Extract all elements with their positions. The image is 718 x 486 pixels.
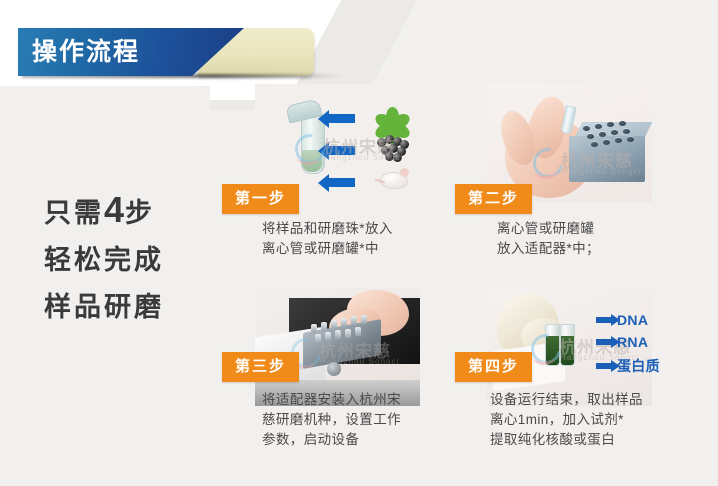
output-row-protein: 蛋白质 — [596, 356, 660, 376]
plant-leaf-icon — [375, 101, 409, 133]
output-row-rna: RNA — [596, 334, 648, 350]
output-row-dna: DNA — [596, 312, 648, 328]
headline-line-3: 样品研磨 — [44, 284, 214, 331]
step-4-badge: 第四步 — [455, 352, 532, 382]
step-2-badge: 第二步 — [455, 184, 532, 214]
sample-vial-2 — [560, 324, 575, 366]
headline-block: 只需4步 轻松完成 样品研磨 — [44, 186, 214, 331]
step-3-caption-line-3: 参数，启动设备 — [262, 430, 401, 450]
output-label-rna: RNA — [617, 334, 648, 350]
sample-vial-1 — [545, 324, 560, 366]
step-2-caption-line-1: 离心管或研磨罐 — [497, 219, 600, 239]
arrow-row-beads — [329, 140, 420, 162]
arrow-row-animal — [329, 172, 420, 194]
step-4-caption-line-1: 设备运行结束，取出样品 — [490, 390, 643, 410]
headline-line-1-suffix: 步 — [125, 198, 155, 228]
step-3-caption-line-1: 将适配器安装入杭州宋 — [262, 390, 401, 410]
headline-step-count: 4 — [104, 189, 125, 230]
headline-line-2: 轻松完成 — [44, 237, 214, 284]
step-3-badge: 第三步 — [222, 352, 299, 382]
step-1-caption-line-2: 离心管或研磨罐*中 — [262, 239, 393, 259]
step-2-caption: 离心管或研磨罐 放入适配器*中； — [497, 219, 600, 259]
right-arrow-icon — [596, 339, 612, 345]
step-1-caption: 将样品和研磨珠*放入 离心管或研磨罐*中 — [262, 219, 393, 259]
step-2-caption-line-2: 放入适配器*中； — [497, 239, 600, 259]
output-label-protein: 蛋白质 — [617, 356, 660, 376]
step-1-badge: 第一步 — [222, 184, 299, 214]
left-arrow-icon — [329, 114, 355, 123]
output-label-dna: DNA — [617, 312, 648, 328]
drive-knob — [327, 362, 341, 376]
lab-mouse-icon — [375, 164, 413, 190]
right-arrow-icon — [596, 317, 612, 323]
page-title: 操作流程 — [32, 33, 140, 71]
step-4-caption-line-3: 提取纯化核酸或蛋白 — [490, 430, 643, 450]
arrow-row-plant — [329, 108, 420, 130]
headline-line-1: 只需4步 — [44, 186, 214, 237]
headline-line-1-prefix: 只需 — [44, 198, 104, 228]
step-3-illustration: 杭州宋慈 Hangzhou Songci — [255, 288, 420, 406]
step-4-caption: 设备运行结束，取出样品 离心1min，加入试剂* 提取纯化核酸或蛋白 — [490, 390, 643, 450]
step-3-caption-line-2: 慈研磨机种，设置工作 — [262, 410, 401, 430]
step-4-caption-line-2: 离心1min，加入试剂* — [490, 410, 643, 430]
right-arrow-icon — [596, 363, 612, 369]
step-1-caption-line-1: 将样品和研磨珠*放入 — [262, 219, 393, 239]
left-arrow-icon — [329, 178, 355, 187]
grinding-beads-icon — [375, 134, 411, 160]
left-arrow-icon — [329, 146, 355, 155]
step-3-caption: 将适配器安装入杭州宋 慈研磨机种，设置工作 参数，启动设备 — [262, 390, 401, 450]
